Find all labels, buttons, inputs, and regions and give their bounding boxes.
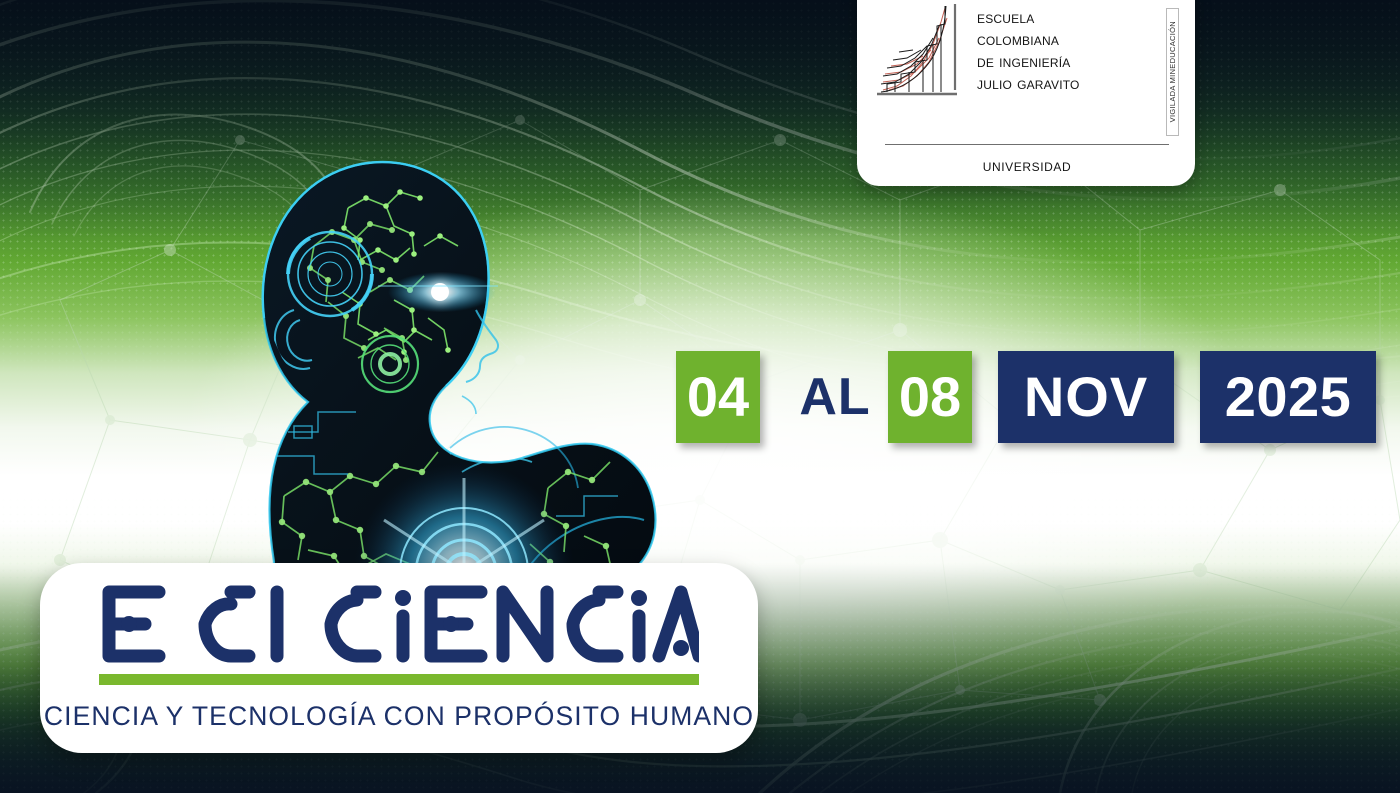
university-name-block: Escuela Colombiana de Ingeniería Julio G… [977,2,1152,94]
vigilada-text: VIGILADA MINEDUCACIÓN [1168,21,1177,122]
university-logo-card: Escuela Colombiana de Ingeniería Julio G… [857,0,1195,186]
date-connector-al: AL [782,351,888,443]
eci-curve-mark-icon [875,2,967,106]
university-name-line-4: Julio Garavito [977,72,1152,94]
university-card-divider [885,144,1169,145]
university-name-line-3: de Ingeniería [977,50,1152,72]
date-badge-day-end: 08 [888,351,972,443]
date-badge-month: NOV [998,351,1174,443]
eci-logo-tagline: CIENCIA Y TECNOLOGÍA CON PROPÓSITO HUMAN… [44,701,754,732]
vigilada-mineducacion-label: VIGILADA MINEDUCACIÓN [1166,8,1179,136]
eci-ciencia-event-banner: Escuela Colombiana de Ingeniería Julio G… [0,0,1400,793]
date-gap-2 [972,351,998,443]
date-badge-year: 2025 [1200,351,1376,443]
eci-ciencia-wordmark [99,582,699,666]
eci-logo-accent-bar [99,674,699,685]
university-name-line-2: Colombiana [977,28,1152,50]
date-badge-day-start: 04 [676,351,760,443]
date-gap-3 [1174,351,1200,443]
date-gap-1 [760,351,782,443]
eci-ciencia-logo-card: CIENCIA Y TECNOLOGÍA CON PROPÓSITO HUMAN… [40,563,758,753]
university-name-line-1: Escuela [977,6,1152,28]
university-logo-top: Escuela Colombiana de Ingeniería Julio G… [875,0,1179,136]
university-subtitle: Universidad [875,156,1179,176]
event-date-row: 04 AL 08 NOV 2025 [676,351,1376,443]
